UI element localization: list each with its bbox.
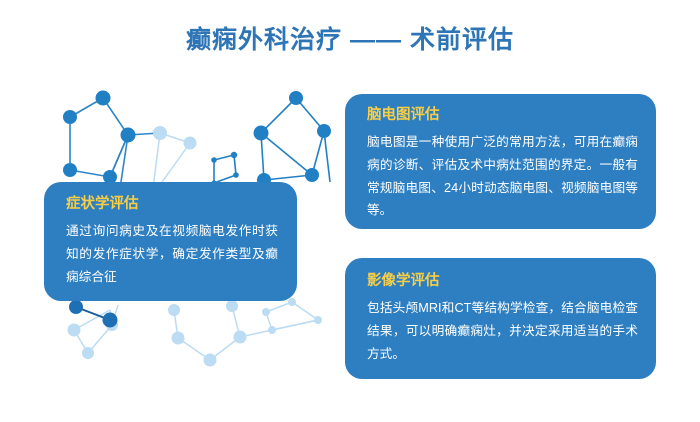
card-imaging: 影像学评估 包括头颅MRI和CT等结构学检查，结合脑电检查结果，可以明确癫痫灶，… xyxy=(345,258,656,379)
network-edges-dark-mid xyxy=(214,155,236,183)
card-symptomatology-heading: 症状学评估 xyxy=(66,196,278,213)
card-symptomatology: 症状学评估 通过询问病史及在视频脑电发作时获知的发作症状学，确定发作类型及癫痫综… xyxy=(44,182,297,301)
page-title: 癫痫外科治疗 —— 术前评估 xyxy=(0,20,700,56)
card-eeg-body: 脑电图是一种使用广泛的常用方法，可用在癫痫病的诊断、评估及术中病灶范围的界定。一… xyxy=(367,131,638,221)
card-imaging-heading: 影像学评估 xyxy=(367,273,638,290)
card-eeg-heading: 脑电图评估 xyxy=(367,107,638,124)
network-nodes-lower-dark xyxy=(69,300,118,328)
card-eeg: 脑电图评估 脑电图是一种使用广泛的常用方法，可用在癫痫病的诊断、评估及术中病灶范… xyxy=(345,94,656,229)
network-edges-right xyxy=(261,98,330,182)
network-nodes-lower-light xyxy=(68,298,323,367)
network-edges-lower-dark xyxy=(76,307,110,320)
card-symptomatology-body: 通过询问病史及在视频脑电发作时获知的发作症状学，确定发作类型及癫痫综合征 xyxy=(66,220,278,288)
slide-canvas: 癫痫外科治疗 —— 术前评估 症状学评估 通过询问病史及在视频脑电发作时获知的发… xyxy=(0,0,700,422)
card-imaging-body: 包括头颅MRI和CT等结构学检查，结合脑电检查结果，可以明确癫痫灶，并决定采用适… xyxy=(367,297,638,365)
network-edges-lower xyxy=(74,302,318,360)
